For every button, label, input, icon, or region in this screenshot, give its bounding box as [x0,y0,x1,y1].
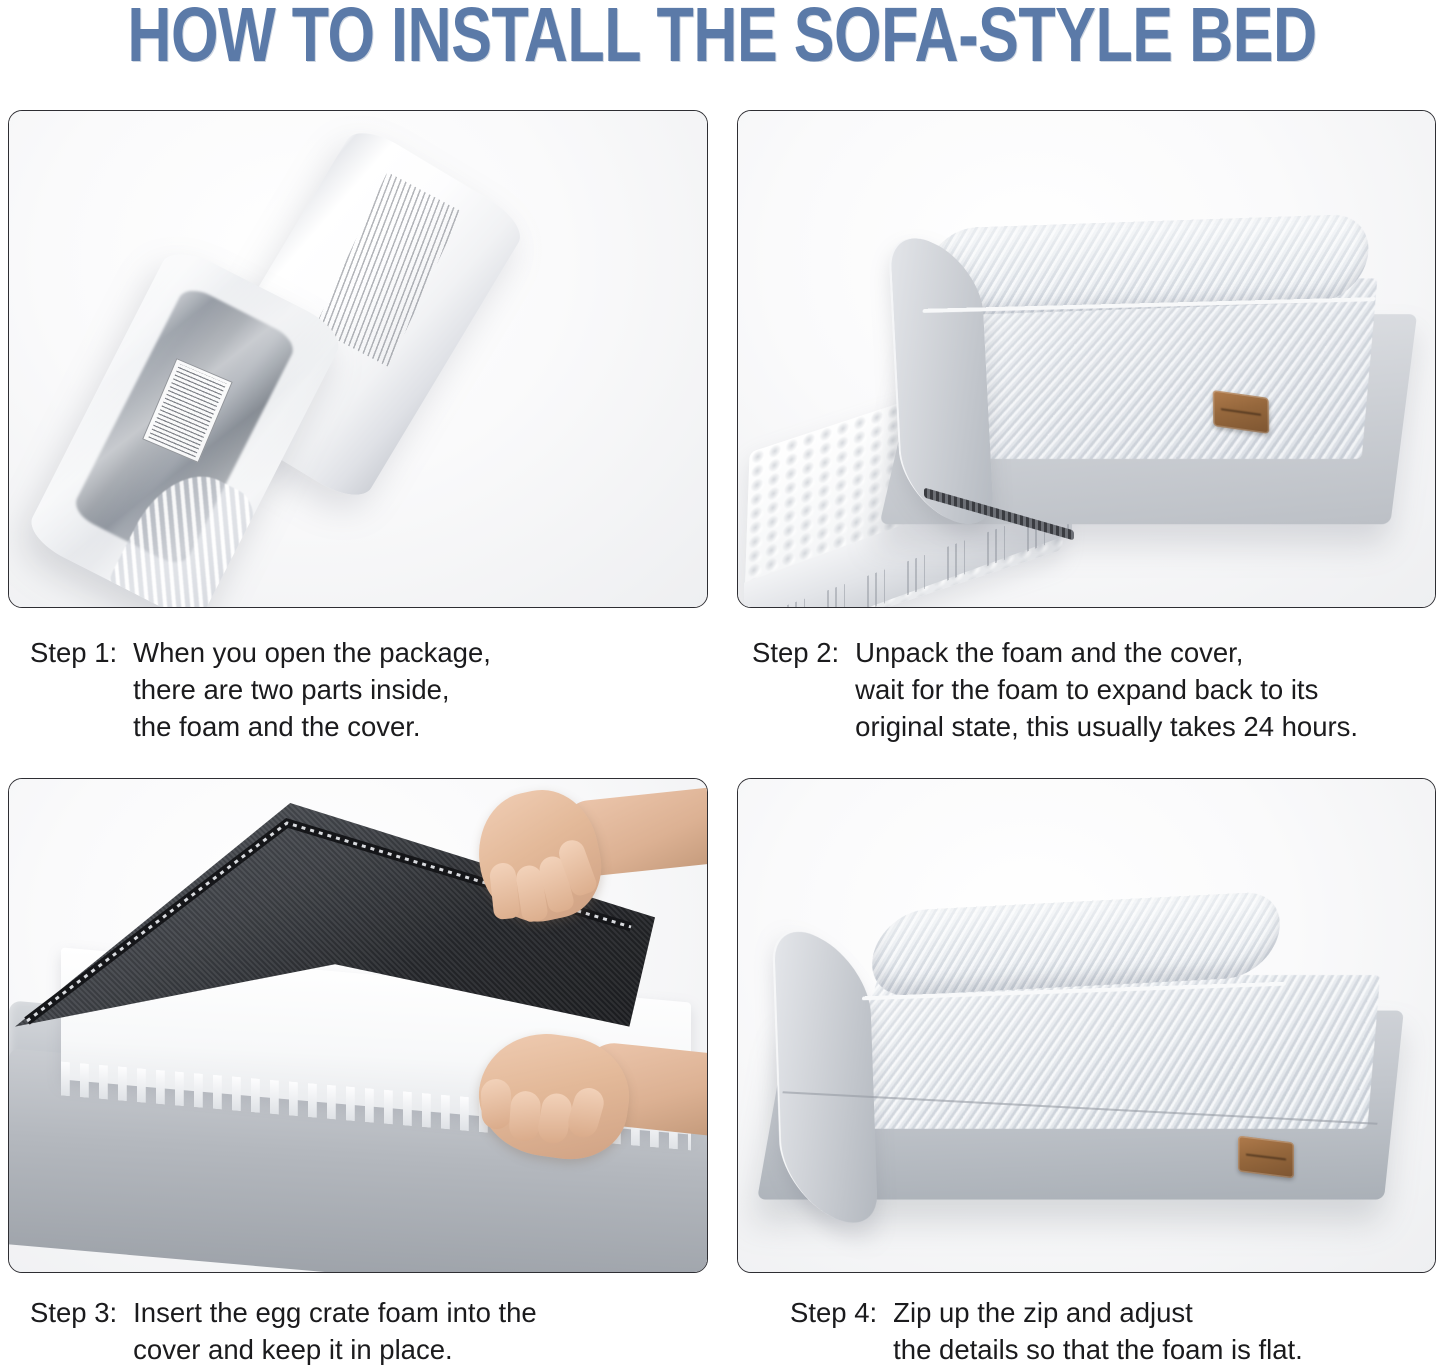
step-2-caption: Step 2: Unpack the foam and the cover, w… [752,634,1442,745]
step-3-label: Step 3: [30,1294,133,1331]
step-2-label: Step 2: [752,634,855,671]
step-1-label: Step 1: [30,634,133,671]
step-4-line-2: the details so that the foam is flat. [893,1331,1440,1368]
step-2-text: Unpack the foam and the cover, wait for … [855,634,1442,745]
step-2-image-panel [737,110,1436,608]
step-1-line-3: the foam and the cover. [133,708,700,745]
step-3-line-1: Insert the egg crate foam into the [133,1294,700,1331]
page-title-text: HOW TO INSTALL THE SOFA-STYLE BED [128,0,1317,62]
bed-cover [904,207,1404,537]
step-4-caption: Step 4: Zip up the zip and adjust the de… [790,1294,1440,1368]
step-2-photo [738,111,1435,607]
step-2-line-3: original state, this usually takes 24 ho… [855,708,1442,745]
step-1-text: When you open the package, there are two… [133,634,700,745]
step-3-text: Insert the egg crate foam into the cover… [133,1294,700,1368]
step-2-line-1: Unpack the foam and the cover, [855,634,1442,671]
step-2-line-2: wait for the foam to expand back to its [855,671,1442,708]
step-3-image-panel [8,778,708,1273]
step-4-photo [738,779,1435,1272]
step-3-line-2: cover and keep it in place. [133,1331,700,1368]
step-3-caption: Step 3: Insert the egg crate foam into t… [30,1294,700,1368]
step-4-label: Step 4: [790,1294,893,1331]
step-4-image-panel [737,778,1436,1273]
step-1-line-2: there are two parts inside, [133,671,700,708]
step-4-line-1: Zip up the zip and adjust [893,1294,1440,1331]
step-1-image-panel [8,110,708,608]
step-4-text: Zip up the zip and adjust the details so… [893,1294,1440,1368]
finished-sofa-bed [768,889,1408,1229]
step-1-photo [9,111,707,607]
page-title: HOW TO INSTALL THE SOFA-STYLE BED [0,0,1445,62]
step-1-line-1: When you open the package, [133,634,700,671]
step-1-caption: Step 1: When you open the package, there… [30,634,700,745]
step-3-photo [9,779,707,1272]
leather-brand-tag [1238,1136,1294,1179]
